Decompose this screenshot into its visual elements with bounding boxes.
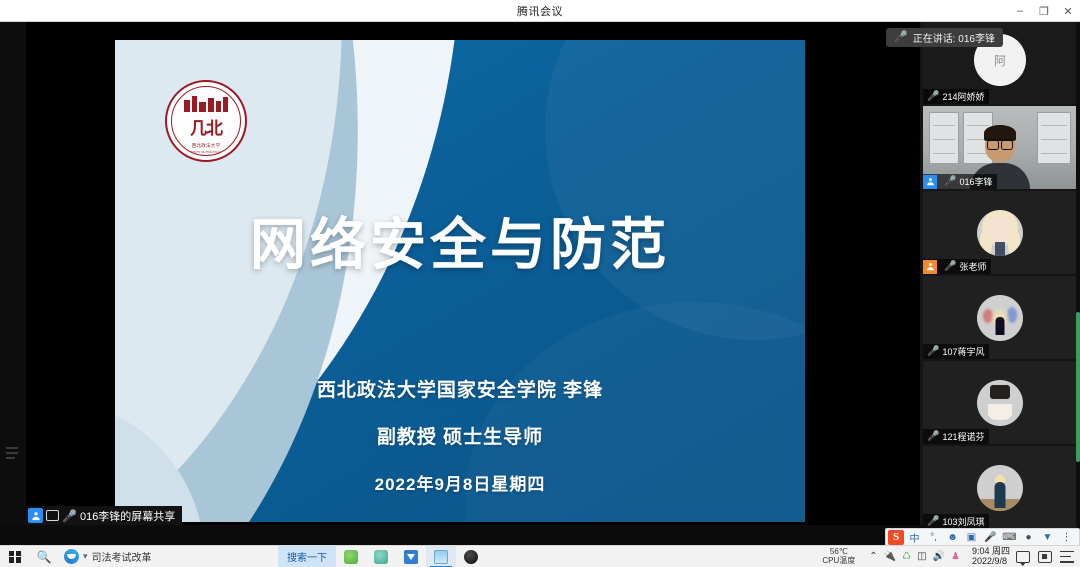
photos-icon [434, 550, 448, 564]
search-icon[interactable]: 🔍 [30, 546, 58, 567]
toolbox-icon[interactable]: ⋮ [1058, 530, 1075, 545]
usb-icon[interactable]: 🔌 [884, 552, 896, 562]
microphone-on-icon: 🎤 [62, 510, 77, 522]
security-icon[interactable]: ♺ [902, 552, 911, 562]
screen-icon [46, 510, 59, 521]
seal-chinese-text: 西北政法大学 [192, 143, 221, 149]
cpu-temperature-label: CPU温度 [822, 557, 855, 565]
participant-tile[interactable]: 🎤 103刘凤琪 [923, 446, 1077, 529]
minimize-button[interactable]: – [1008, 0, 1032, 22]
window-title: 腾讯会议 [517, 3, 563, 19]
volume-icon[interactable]: 🔊 [933, 552, 945, 562]
seal-english-text: NORTHWEST UNIVERSITY OF POLITICAL SCIENC… [171, 150, 241, 154]
taskbar-app-photos[interactable] [426, 546, 456, 567]
taskbar-app-teal[interactable] [366, 546, 396, 567]
seal-monogram: 几北 [190, 114, 222, 139]
microphone-muted-icon: 🎤 [923, 432, 939, 442]
ime-toolbar[interactable]: S 中 °, ☻ ▣ 🎤 ⌨ ● ▼ ⋮ [885, 528, 1080, 546]
microphone-on-icon: 🎤 [940, 177, 956, 187]
keyboard-icon[interactable]: ⌨ [1001, 530, 1018, 545]
sogou-logo-icon[interactable]: S [888, 530, 904, 545]
screenshot-icon[interactable]: ▣ [963, 530, 980, 545]
participant-name: 121程诺芬 [942, 430, 984, 443]
slide-date: 2022年9月8日星期四 [115, 470, 805, 495]
participant-tile[interactable]: 🎤 121程诺芬 [923, 361, 1077, 444]
tencent-meeting-window: 腾讯会议 – ❐ ✕ [0, 0, 1080, 567]
presentation-slide: 几北 西北政法大学 NORTHWEST UNIVERSITY OF POLITI… [115, 40, 805, 522]
search-submit-button[interactable]: 搜索一下 [278, 546, 336, 567]
participant-namebar: 🎤 214阿娇娇 [923, 89, 989, 104]
participant-namebar: 🎤 121程诺芬 [923, 429, 989, 444]
blue-app-icon [404, 550, 418, 564]
avatar [977, 210, 1023, 256]
speaking-banner-text: 正在讲话: 016李锋 [913, 30, 995, 45]
participant-tile[interactable]: 🎤 016李锋 [923, 106, 1077, 189]
participant-sidebar: 🎤 正在讲话: 016李锋 阿 🎤 214阿娇娇 [920, 22, 1080, 525]
close-button[interactable]: ✕ [1056, 0, 1080, 22]
participant-name: 016李锋 [959, 175, 992, 188]
university-seal-logo: 几北 西北政法大学 NORTHWEST UNIVERSITY OF POLITI… [165, 80, 247, 162]
maximize-button[interactable]: ❐ [1032, 0, 1056, 22]
participants-list-icon[interactable] [6, 447, 20, 459]
emoji-icon[interactable]: ☻ [944, 530, 961, 545]
action-center-icon[interactable] [1016, 551, 1030, 563]
voice-input-icon[interactable]: 🎤 [982, 530, 999, 545]
language-mode-button[interactable]: 中 [906, 530, 923, 545]
participant-tile[interactable]: 🎤 张老师 [923, 191, 1077, 274]
sidebar-scrollbar[interactable] [1076, 22, 1080, 525]
dark-app-icon [464, 550, 478, 564]
avatar [977, 465, 1023, 511]
taskbar-app-green[interactable] [336, 546, 366, 567]
meeting-body: 几北 西北政法大学 NORTHWEST UNIVERSITY OF POLITI… [0, 22, 1080, 545]
microphone-muted-icon: 🎤 [894, 32, 908, 43]
battery-icon[interactable]: ◫ [917, 552, 926, 562]
slide-position: 副教授 硕士生导师 [115, 422, 805, 449]
shared-screen-stage[interactable]: 几北 西北政法大学 NORTHWEST UNIVERSITY OF POLITI… [26, 22, 920, 525]
slide-affiliation: 西北政法大学国家安全学院 李锋 [115, 375, 805, 402]
sidebar-scrollbar-thumb[interactable] [1076, 312, 1080, 462]
taskbar-clock[interactable]: 9:04 周四 2022/9/8 [966, 547, 1016, 567]
windows-start-icon[interactable] [0, 546, 30, 567]
punctuation-mode-button[interactable]: °, [925, 530, 942, 545]
microphone-muted-icon: 🎤 [923, 347, 939, 357]
participant-namebar: 🎤 016李锋 [923, 174, 997, 189]
left-rail [0, 22, 26, 525]
notes-icon[interactable] [1060, 551, 1074, 563]
taskbar-search-input[interactable]: ▾ 司法考试改革 [58, 546, 278, 567]
participant-name: 107蒋宇风 [942, 345, 984, 358]
avatar [977, 380, 1023, 426]
screen-share-label: 016李锋的屏幕共享 [80, 508, 175, 524]
system-tray: ⌃ 🔌 ♺ ◫ 🔊 ♟ [863, 552, 966, 562]
participant-name: 214阿娇娇 [942, 90, 984, 103]
green-app-icon [344, 550, 358, 564]
participant-namebar: 🎤 张老师 [923, 259, 991, 274]
participant-namebar: 🎤 107蒋宇风 [923, 344, 989, 359]
avatar [977, 295, 1023, 341]
user-icon [923, 175, 937, 189]
microphone-muted-icon: 🎤 [923, 92, 939, 102]
skin-icon[interactable]: ▼ [1039, 530, 1056, 545]
host-badge-icon [923, 260, 937, 274]
account-icon[interactable]: ● [1020, 530, 1037, 545]
participant-name: 张老师 [959, 260, 986, 273]
user-icon [28, 508, 43, 523]
screen-share-indicator: 🎤 016李锋的屏幕共享 [26, 506, 182, 525]
teal-app-icon [374, 550, 388, 564]
participant-namebar: 🎤 103刘凤琪 [923, 514, 989, 529]
microphone-muted-icon: 🎤 [940, 262, 956, 272]
participant-tile[interactable]: 🎤 107蒋宇风 [923, 276, 1077, 359]
speaking-banner: 🎤 正在讲话: 016李锋 [886, 28, 1003, 47]
dropdown-icon[interactable]: ▾ [83, 551, 88, 562]
show-hidden-icons-button[interactable]: ⌃ [869, 552, 877, 562]
window-controls: – ❐ ✕ [1008, 0, 1080, 22]
show-desktop-icon[interactable] [1038, 551, 1052, 563]
taskbar-app-blue[interactable] [396, 546, 426, 567]
windows-taskbar: 🔍 ▾ 司法考试改革 搜索一下 56℃ CPU温度 ⌃ 🔌 ♺ ◫ 🔊 ♟ [0, 545, 1080, 567]
edge-icon [64, 549, 79, 564]
taskbar-app-dark[interactable] [456, 546, 486, 567]
taskbar-apps [336, 546, 486, 567]
app-tray-icon[interactable]: ♟ [951, 552, 960, 562]
microphone-muted-icon: 🎤 [923, 517, 939, 527]
search-query-text: 司法考试改革 [92, 549, 152, 564]
taskbar-right-icons [1016, 551, 1080, 563]
slide-title: 网络安全与防范 [115, 200, 805, 281]
seal-skyline [184, 96, 228, 112]
clock-date: 2022/9/8 [972, 557, 1007, 567]
participant-name: 103刘凤琪 [942, 515, 984, 528]
window-titlebar: 腾讯会议 – ❐ ✕ [0, 0, 1080, 22]
cpu-temperature-widget: 56℃ CPU温度 [814, 548, 863, 565]
